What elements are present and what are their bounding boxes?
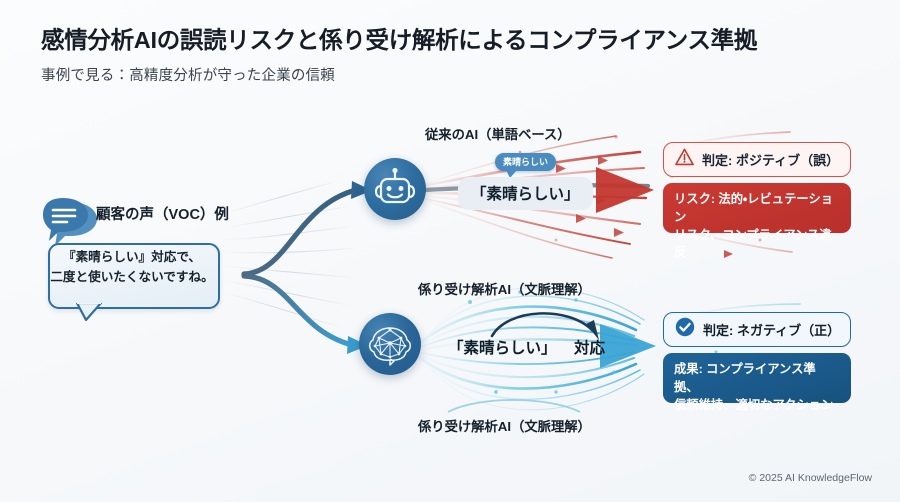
good-verdict-card: 判定: ネガティブ（正）: [663, 312, 851, 347]
check-circle-icon: [675, 317, 695, 342]
infographic-canvas: 感情分析AIの誤読リスクと係り受け解析によるコンプライアンス準拠 事例で見る：高…: [0, 0, 900, 502]
outcome-detail-card: 成果: コンプライアンス準拠、 信頼維持、適切なアクション: [663, 353, 851, 403]
dependency-target-label: 対応: [574, 336, 605, 358]
voc-quote-line-1: 『素晴らしい』対応で、: [48, 248, 216, 268]
good-verdict-label: 判定: ネガティブ（正）: [703, 320, 840, 339]
top-branch-caption: 従来のAI（単語ベース）: [425, 124, 571, 143]
page-subtitle: 事例で見る：高精度分析が守った企業の信頼: [41, 64, 861, 85]
bad-verdict-card: 判定: ポジティブ（誤）: [663, 142, 851, 177]
outcome-detail-line-1: 成果: コンプライアンス準拠、: [674, 361, 840, 397]
brain-network-icon: [359, 313, 421, 375]
risk-detail-card: リスク: 法的・レビュテーション リスク、コンプライアンス違反: [663, 183, 851, 233]
risk-detail-line-2: リスク、コンプライアンス違反: [674, 227, 840, 263]
robot-icon: [364, 158, 426, 220]
outcome-detail-line-2: 信頼維持、適切なアクション: [674, 397, 840, 415]
risk-detail-line-1: リスク: 法的・レビュテーション: [674, 191, 840, 227]
voc-bubble-tail: [76, 303, 102, 321]
voc-quote-text: 『素晴らしい』対応で、 二度と使いたくないですね。: [48, 248, 216, 287]
bottom-phrase-pill: 「素晴らしい」: [448, 336, 557, 358]
copyright-footer: © 2025 AI KnowledgeFlow: [749, 472, 872, 484]
bottom-branch-caption: 係り受け解析AI（文脈理解）: [418, 279, 591, 298]
voc-heading: 顧客の声（VOC）例: [96, 203, 229, 224]
voc-quote-line-2: 二度と使いたくないですね。: [48, 268, 216, 288]
page-title: 感情分析AIの誤読リスクと係り受け解析によるコンプライアンス準拠: [41, 26, 861, 54]
warning-triangle-icon: [675, 148, 694, 171]
token-pill: 素晴らしい: [495, 153, 556, 171]
top-phrase-pill: 「素晴らしい」: [458, 177, 593, 210]
bad-verdict-label: 判定: ポジティブ（誤）: [702, 150, 839, 169]
header-block: 感情分析AIの誤読リスクと係り受け解析によるコンプライアンス準拠 事例で見る：高…: [41, 26, 861, 85]
bottom-branch-caption-repeat: 係り受け解析AI（文脈理解）: [418, 416, 591, 435]
